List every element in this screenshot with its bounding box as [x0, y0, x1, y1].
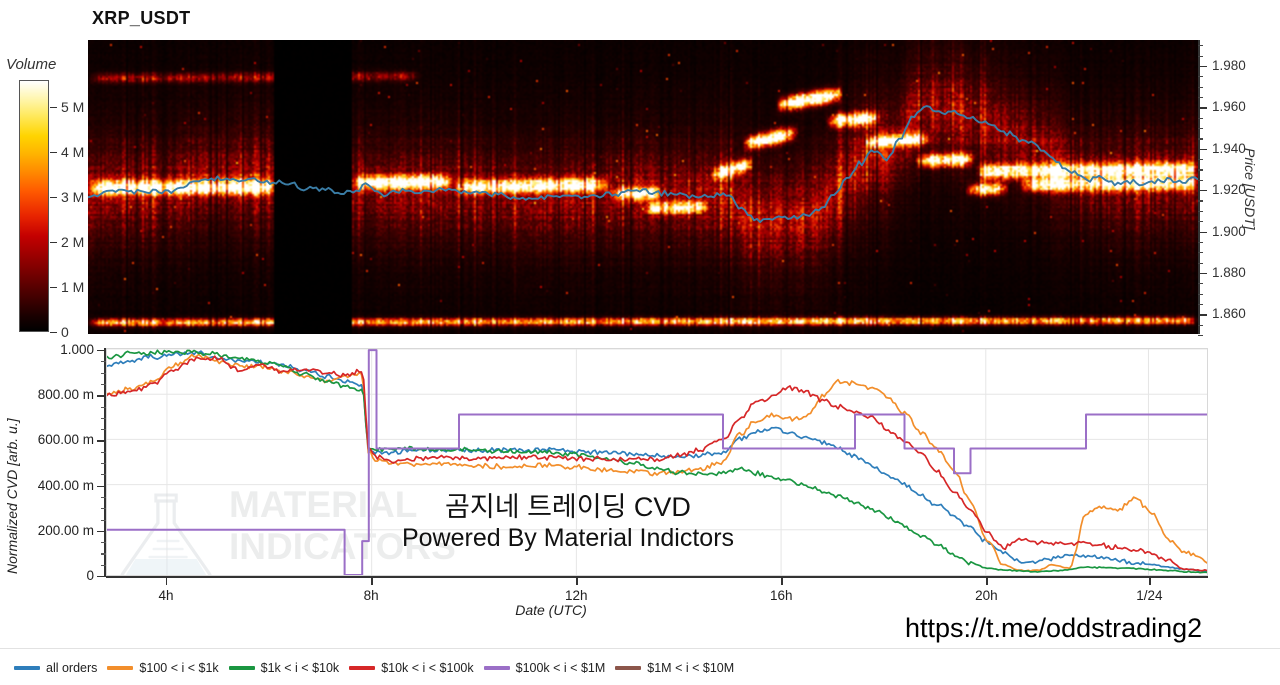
price-tick-label: 1.900	[1212, 224, 1246, 239]
chart-page: XRP_USDT Volume 5 M4 M3 M2 M1 M0 1.9801.…	[0, 0, 1280, 685]
price-tick-major	[1198, 149, 1207, 150]
cvd-y-axis-title: Normalized CVD [arb. u.]	[4, 418, 20, 574]
cvd-y-tick-major	[97, 576, 106, 577]
colorbar-tick	[50, 197, 57, 198]
price-tick-major	[1198, 314, 1207, 315]
legend-swatch	[484, 666, 510, 669]
price-axis: 1.9801.9601.9401.9201.9001.8801.860 Pric…	[1198, 40, 1280, 334]
price-axis-title: Price [USDT]	[1242, 148, 1258, 230]
cvd-x-tick	[986, 576, 987, 585]
price-tick-major	[1198, 232, 1207, 233]
price-tick-minor	[1198, 200, 1203, 201]
price-tick-minor	[1198, 335, 1203, 336]
liquidity-heatmap[interactable]	[88, 40, 1198, 334]
price-tick-major	[1198, 66, 1207, 67]
cvd-y-tick-label: 200.00 m	[38, 523, 94, 538]
price-tick-minor	[1198, 283, 1203, 284]
colorbar-tick	[50, 107, 57, 108]
legend-divider	[0, 648, 1280, 649]
cvd-x-tick-label: 16h	[770, 588, 793, 603]
price-tick-minor	[1198, 159, 1203, 160]
legend-item[interactable]: $1M < i < $10M	[615, 661, 734, 675]
cvd-x-tick	[166, 576, 167, 585]
cvd-x-tick	[781, 576, 782, 585]
legend-swatch	[14, 666, 40, 669]
cvd-series-path	[107, 356, 1207, 571]
price-tick-minor	[1198, 56, 1203, 57]
legend-label: $100 < i < $1k	[139, 661, 218, 675]
cvd-y-tick-label: 400.00 m	[38, 478, 94, 493]
legend-label: $1k < i < $10k	[261, 661, 340, 675]
page-title: XRP_USDT	[92, 8, 190, 29]
volume-colorbar: Volume 5 M4 M3 M2 M1 M0	[6, 56, 88, 336]
price-tick-minor	[1198, 221, 1203, 222]
price-tick-minor	[1198, 263, 1203, 264]
cvd-x-axis-title: Date (UTC)	[515, 602, 587, 618]
price-tick-minor	[1198, 304, 1203, 305]
colorbar-tick-label: 1 M	[61, 279, 84, 295]
cvd-series	[107, 349, 1207, 575]
cvd-y-tick-label: 1.000	[60, 342, 94, 357]
colorbar-tick-label: 5 M	[61, 99, 84, 115]
colorbar-tick	[50, 287, 57, 288]
price-tick-major	[1198, 190, 1207, 191]
legend-label: all orders	[46, 661, 97, 675]
cvd-y-tick-label: 0	[86, 568, 94, 583]
legend-swatch	[349, 666, 375, 669]
price-tick-label: 1.960	[1212, 99, 1246, 114]
price-tick-minor	[1198, 76, 1203, 77]
price-tick-label: 1.880	[1212, 265, 1246, 280]
legend-label: $10k < i < $100k	[381, 661, 473, 675]
colorbar-title: Volume	[6, 56, 56, 73]
series-legend: all orders$100 < i < $1k$1k < i < $10k$1…	[14, 661, 734, 675]
cvd-y-tick-major	[97, 531, 106, 532]
cvd-x-tick	[371, 576, 372, 585]
price-tick-minor	[1198, 45, 1203, 46]
cvd-x-tick-label: 4h	[159, 588, 174, 603]
price-tick-minor	[1198, 169, 1203, 170]
cvd-x-axis-spine	[106, 576, 1208, 578]
cvd-y-tick-label: 800.00 m	[38, 387, 94, 402]
cvd-y-tick-major	[97, 350, 106, 351]
telegram-link[interactable]: https://t.me/oddstrading2	[905, 613, 1202, 644]
cvd-x-tick-label: 1/24	[1136, 588, 1162, 603]
cvd-y-tick-major	[97, 486, 106, 487]
price-tick-minor	[1198, 325, 1203, 326]
price-line	[88, 40, 1198, 334]
cvd-x-tick	[1149, 576, 1150, 585]
price-tick-minor	[1198, 97, 1203, 98]
price-tick-minor	[1198, 180, 1203, 181]
price-tick-major	[1198, 107, 1207, 108]
legend-item[interactable]: $1k < i < $10k	[229, 661, 340, 675]
colorbar-tick	[50, 332, 57, 333]
cvd-y-tick-major	[97, 395, 106, 396]
cvd-y-tick-label: 600.00 m	[38, 432, 94, 447]
colorbar-tick	[50, 152, 57, 153]
price-axis-spine	[1198, 40, 1200, 334]
price-tick-label: 1.980	[1212, 58, 1246, 73]
cvd-series-path	[107, 355, 1207, 572]
colorbar-gradient	[19, 80, 49, 332]
cvd-series-path	[107, 350, 1207, 572]
colorbar-tick-label: 2 M	[61, 234, 84, 250]
price-tick-minor	[1198, 87, 1203, 88]
legend-swatch	[229, 666, 255, 669]
legend-label: $1M < i < $10M	[647, 661, 734, 675]
colorbar-tick	[50, 242, 57, 243]
price-tick-minor	[1198, 294, 1203, 295]
price-tick-minor	[1198, 138, 1203, 139]
price-tick-minor	[1198, 242, 1203, 243]
price-tick-minor	[1198, 118, 1203, 119]
cvd-chart[interactable]: MATERIAL INDICATORS	[106, 348, 1208, 576]
legend-item[interactable]: $10k < i < $100k	[349, 661, 473, 675]
legend-item[interactable]: all orders	[14, 661, 97, 675]
cvd-series-path	[107, 351, 1207, 571]
price-tick-label: 1.920	[1212, 182, 1246, 197]
price-line-path	[88, 106, 1198, 222]
price-tick-minor	[1198, 252, 1203, 253]
cvd-x-tick-label: 20h	[975, 588, 998, 603]
cvd-x-tick-label: 12h	[565, 588, 588, 603]
colorbar-tick-label: 3 M	[61, 189, 84, 205]
price-tick-label: 1.860	[1212, 306, 1246, 321]
colorbar-tick-label: 4 M	[61, 144, 84, 160]
cvd-x-tick	[576, 576, 577, 585]
legend-item[interactable]: $100 < i < $1k	[107, 661, 218, 675]
price-tick-label: 1.940	[1212, 141, 1246, 156]
cvd-y-tick-major	[97, 440, 106, 441]
price-tick-major	[1198, 273, 1207, 274]
price-tick-minor	[1198, 211, 1203, 212]
legend-item[interactable]: $100k < i < $1M	[484, 661, 606, 675]
price-tick-minor	[1198, 128, 1203, 129]
colorbar-tick-label: 0	[61, 324, 69, 340]
legend-label: $100k < i < $1M	[516, 661, 606, 675]
legend-swatch	[615, 666, 641, 669]
cvd-x-tick-label: 8h	[364, 588, 379, 603]
legend-swatch	[107, 666, 133, 669]
